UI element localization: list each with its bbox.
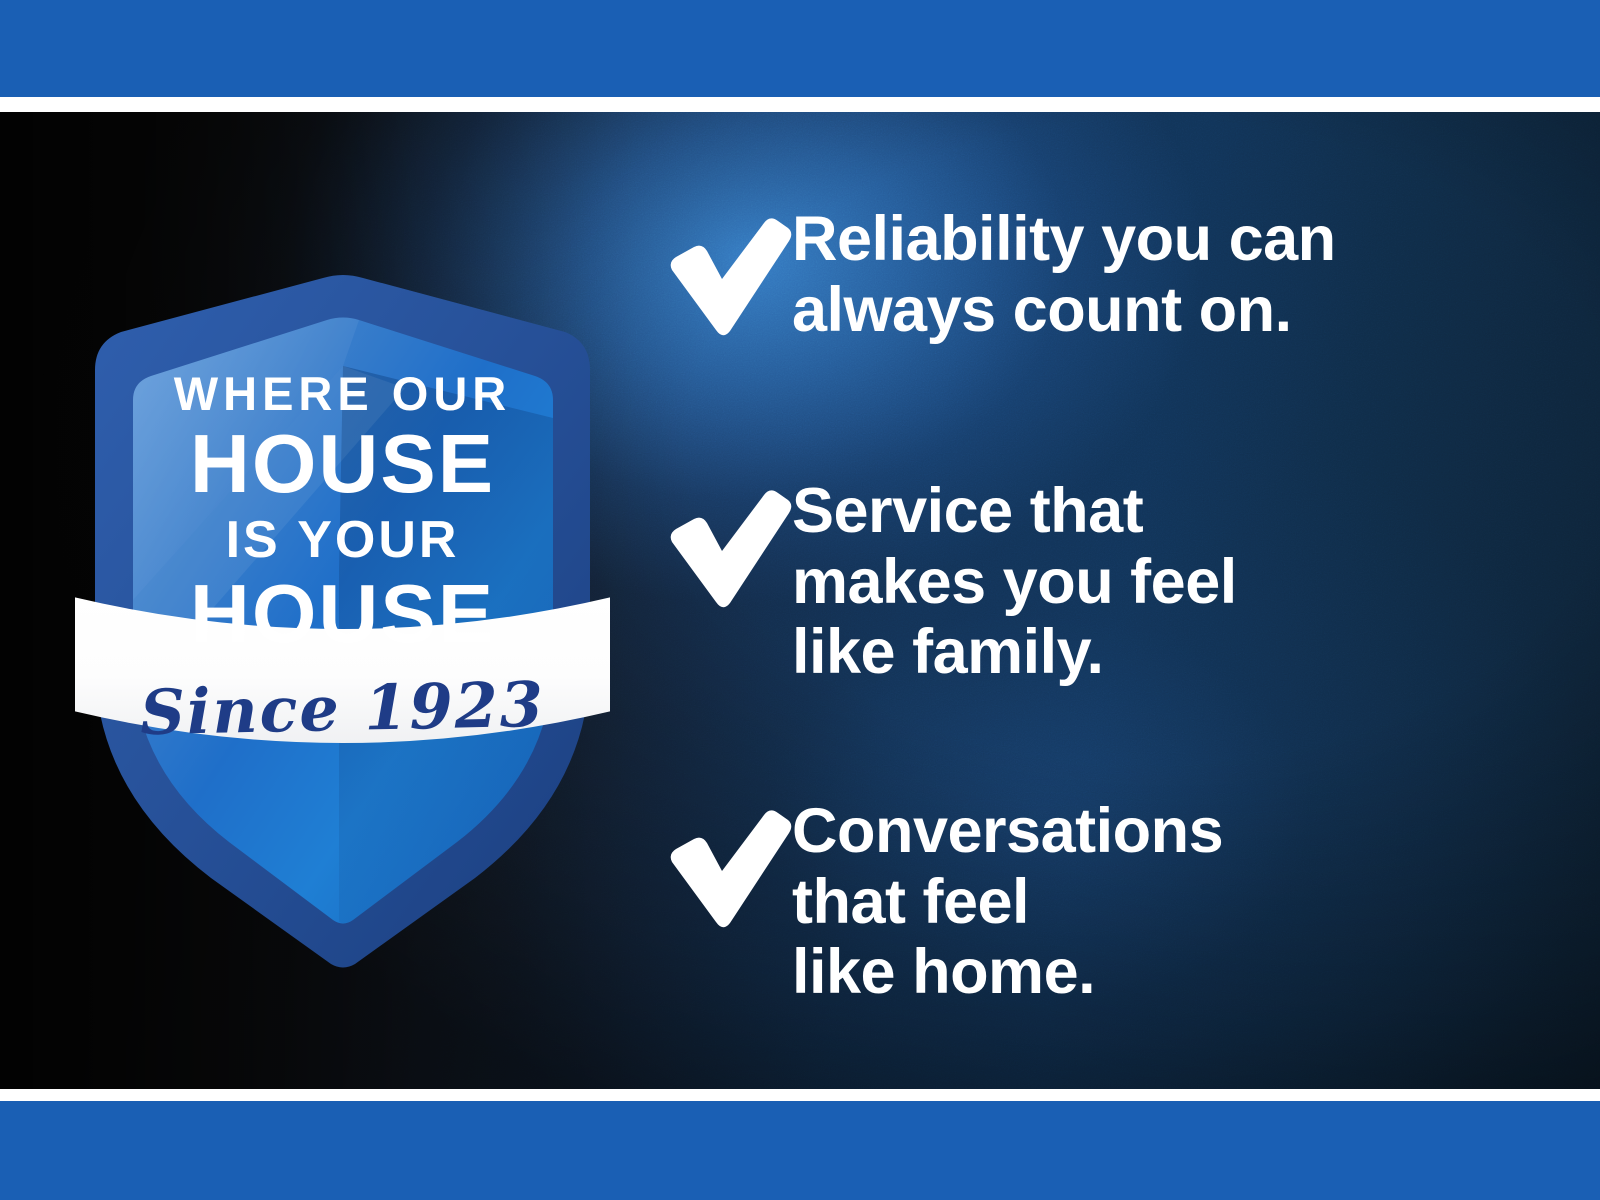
line: Service that xyxy=(792,476,1490,547)
line: that feel xyxy=(792,867,1490,938)
line: like home. xyxy=(792,937,1490,1008)
bottom-brand-bar xyxy=(0,1101,1600,1200)
content-stage: WHERE OUR HOUSE IS YOUR HOUSE Since 1923… xyxy=(0,112,1600,1089)
line: like family. xyxy=(792,617,1490,688)
checklist-item-conversations: Conversations that feel like home. xyxy=(660,792,1490,1008)
line: makes you feel xyxy=(792,547,1490,618)
bottom-divider xyxy=(0,1089,1600,1101)
check-icon xyxy=(660,482,792,610)
checklist-item-reliability: Reliability you can always count on. xyxy=(660,200,1490,345)
top-divider xyxy=(0,97,1600,112)
checklist-text-service: Service that makes you feel like family. xyxy=(792,472,1490,688)
check-icon xyxy=(660,802,792,930)
line: Reliability you can xyxy=(792,204,1490,275)
shield-logo: WHERE OUR HOUSE IS YOUR HOUSE Since 1923 xyxy=(75,270,610,970)
checklist-text-conversations: Conversations that feel like home. xyxy=(792,792,1490,1008)
top-brand-bar xyxy=(0,0,1600,97)
check-icon xyxy=(660,210,792,338)
checklist-text-reliability: Reliability you can always count on. xyxy=(792,200,1490,345)
checklist-item-service: Service that makes you feel like family. xyxy=(660,472,1490,688)
promo-graphic: WHERE OUR HOUSE IS YOUR HOUSE Since 1923… xyxy=(0,0,1600,1200)
line: Conversations xyxy=(792,796,1490,867)
line: always count on. xyxy=(792,275,1490,346)
